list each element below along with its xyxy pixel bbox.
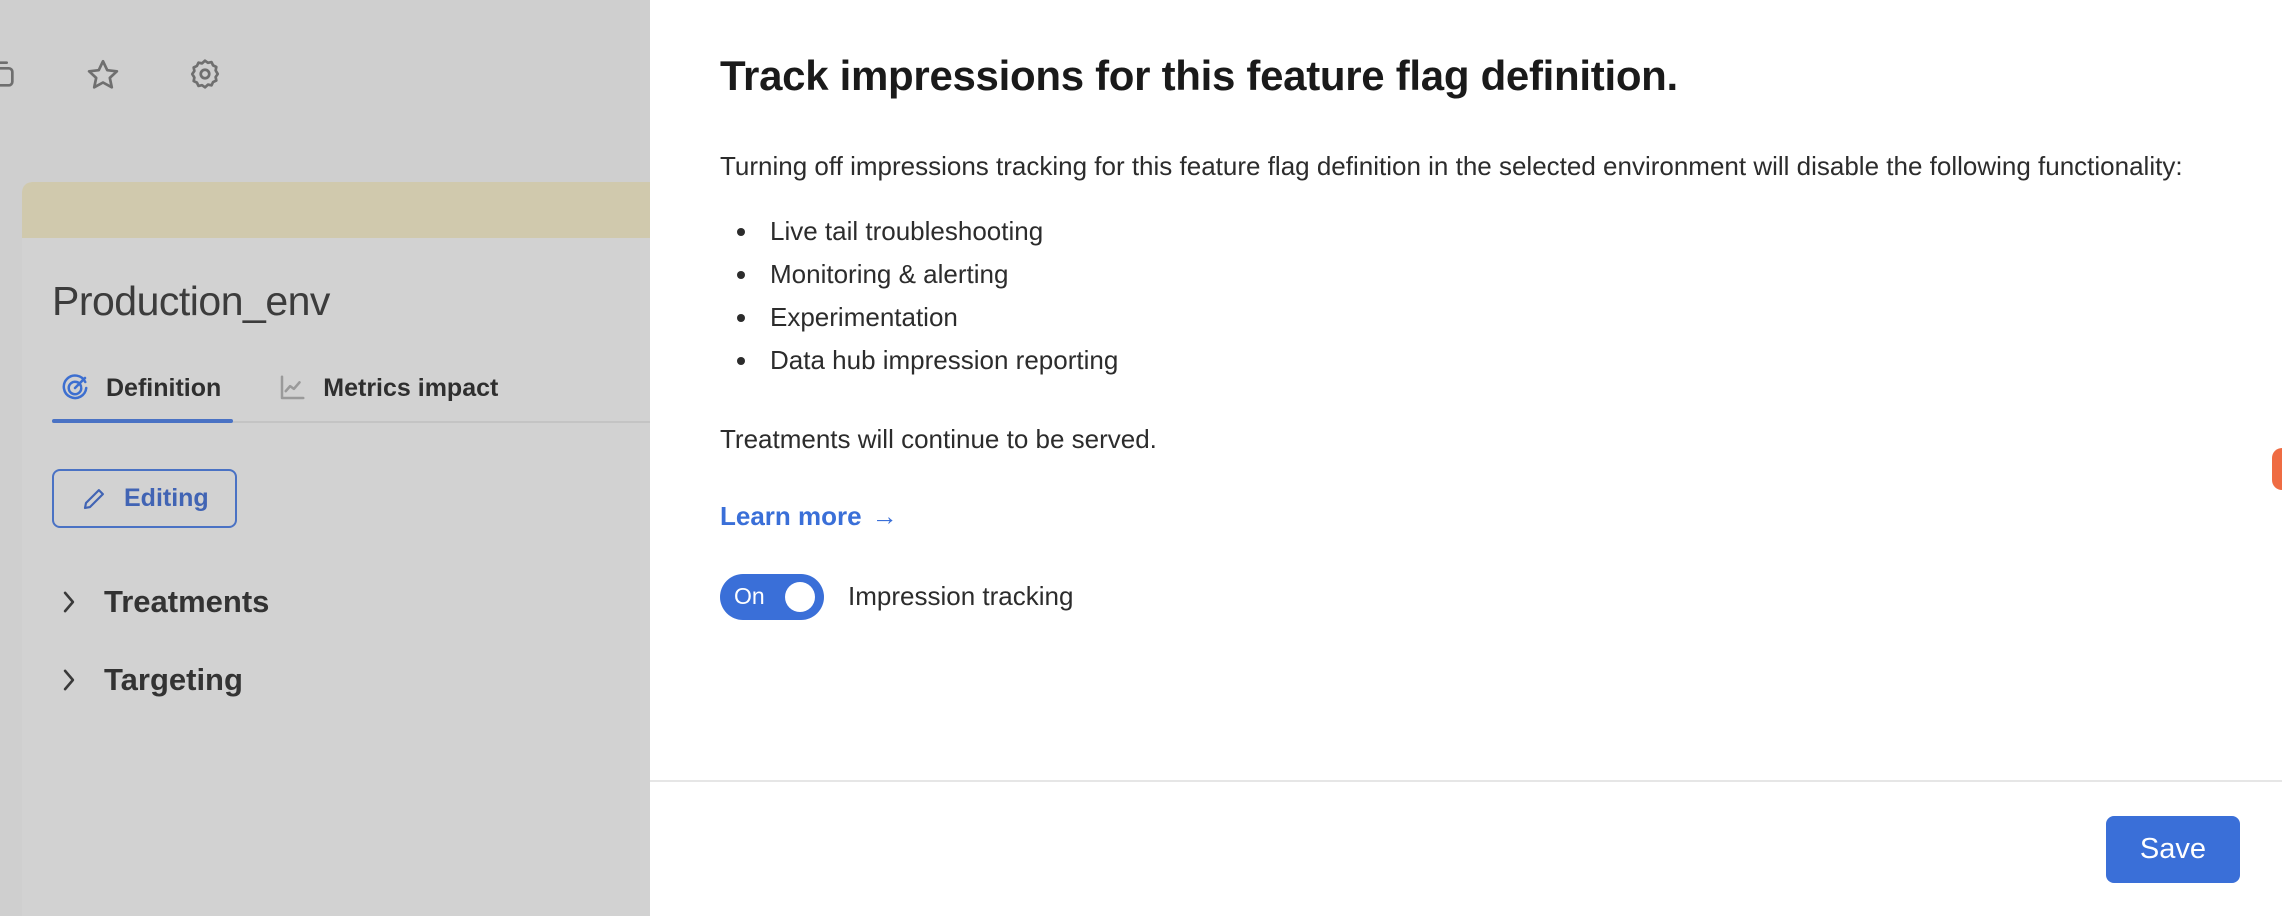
section-treatments[interactable]: Treatments bbox=[58, 584, 650, 620]
treatments-note: Treatments will continue to be served. bbox=[720, 424, 2212, 455]
duplicate-icon[interactable] bbox=[0, 51, 24, 97]
chevron-right-icon bbox=[58, 665, 80, 695]
learn-more-label: Learn more bbox=[720, 501, 862, 532]
line-chart-icon bbox=[275, 371, 309, 405]
flag-toolbar bbox=[0, 0, 650, 148]
impressions-tracking-modal: Track impressions for this feature flag … bbox=[650, 0, 2282, 916]
disabled-functionality-list: Live tail troubleshooting Monitoring & a… bbox=[760, 212, 2212, 380]
impression-tracking-row: On Impression tracking bbox=[720, 574, 2212, 620]
learn-more-link[interactable]: Learn more → bbox=[720, 501, 898, 532]
toggle-state-label: On bbox=[734, 583, 765, 610]
environment-banner bbox=[22, 182, 650, 238]
left-panel: Production_env Definition bbox=[0, 0, 650, 916]
editing-button[interactable]: Editing bbox=[52, 469, 237, 528]
arrow-right-icon: → bbox=[872, 501, 898, 532]
gear-icon[interactable] bbox=[182, 51, 228, 97]
modal-footer: Save bbox=[650, 780, 2282, 916]
tab-bar: Definition Metrics impact bbox=[52, 365, 650, 423]
section-targeting[interactable]: Targeting bbox=[58, 662, 650, 698]
section-targeting-label: Targeting bbox=[104, 662, 243, 698]
star-icon[interactable] bbox=[80, 51, 126, 97]
toggle-knob bbox=[785, 582, 815, 612]
impression-tracking-toggle[interactable]: On bbox=[720, 574, 824, 620]
list-item: Live tail troubleshooting bbox=[760, 212, 2212, 251]
chevron-right-icon bbox=[58, 587, 80, 617]
modal-body: Track impressions for this feature flag … bbox=[650, 0, 2282, 780]
section-treatments-label: Treatments bbox=[104, 584, 269, 620]
tab-metrics-impact-label: Metrics impact bbox=[323, 374, 498, 403]
tab-metrics-impact[interactable]: Metrics impact bbox=[247, 365, 524, 421]
pencil-icon bbox=[80, 485, 108, 513]
save-button[interactable]: Save bbox=[2106, 816, 2240, 883]
target-pencil-icon bbox=[58, 371, 92, 405]
modal-description: Turning off impressions tracking for thi… bbox=[720, 148, 2212, 186]
list-item: Monitoring & alerting bbox=[760, 255, 2212, 294]
feedback-edge-tab[interactable] bbox=[2272, 448, 2282, 490]
flag-detail-card: Production_env Definition bbox=[22, 182, 650, 916]
editing-button-label: Editing bbox=[124, 484, 209, 513]
list-item: Experimentation bbox=[760, 298, 2212, 337]
page-title: Production_env bbox=[22, 238, 650, 325]
tab-definition[interactable]: Definition bbox=[52, 365, 247, 421]
impression-tracking-label: Impression tracking bbox=[848, 581, 1073, 612]
list-item: Data hub impression reporting bbox=[760, 341, 2212, 380]
app-root: Production_env Definition bbox=[0, 0, 2282, 916]
modal-title: Track impressions for this feature flag … bbox=[720, 52, 2212, 100]
tab-definition-label: Definition bbox=[106, 374, 221, 403]
